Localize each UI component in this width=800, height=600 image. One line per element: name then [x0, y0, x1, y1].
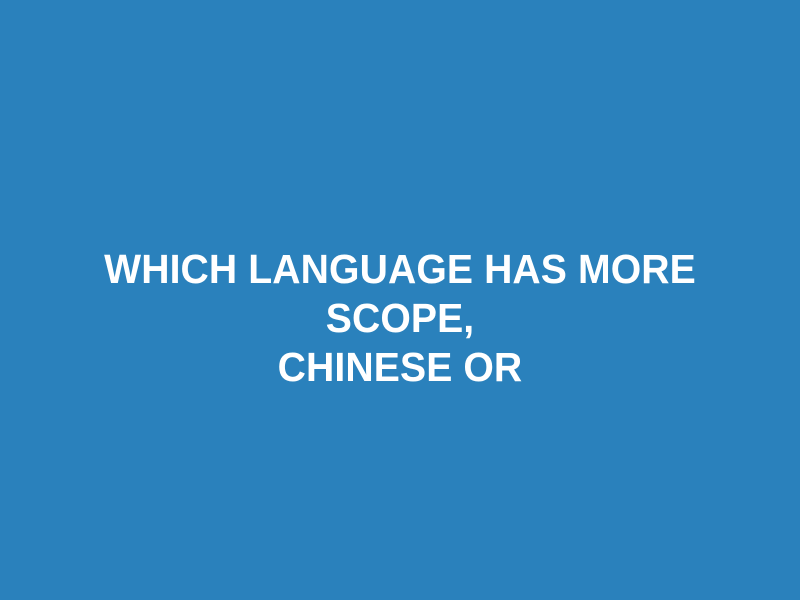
title-card: WHICH LANGUAGE HAS MORE SCOPE, CHINESE O…	[0, 0, 800, 600]
page-title: WHICH LANGUAGE HAS MORE SCOPE, CHINESE O…	[56, 245, 744, 392]
headline-block: WHICH LANGUAGE HAS MORE SCOPE, CHINESE O…	[0, 245, 800, 392]
